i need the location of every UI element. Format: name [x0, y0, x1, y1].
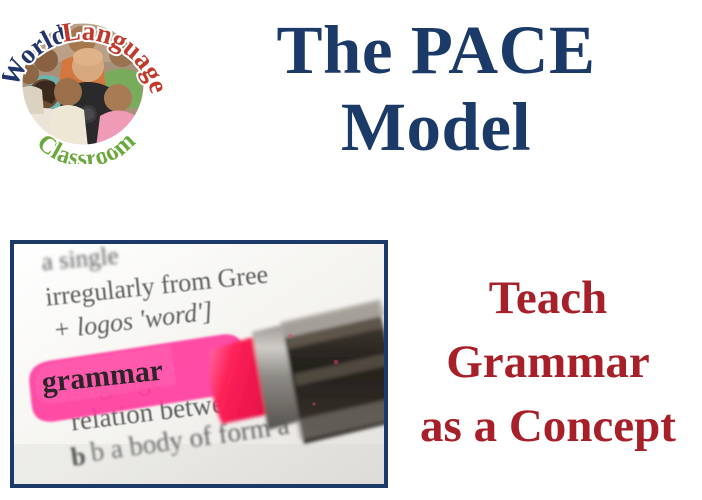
subtitle-line-1: Teach: [396, 266, 700, 330]
subtitle-line-2: Grammar: [396, 330, 700, 394]
grammar-dictionary-photo: a single irregularly from Gree + logos '…: [10, 240, 388, 488]
page-subtitle: Teach Grammar as a Concept: [396, 266, 700, 458]
subtitle-line-3: as a Concept: [396, 394, 700, 458]
title-line-2: Model: [170, 89, 702, 166]
page-title: The PACE Model: [170, 12, 702, 166]
slide-canvas: World Language Classroom The PACE Model …: [0, 0, 702, 500]
title-line-1: The PACE: [170, 12, 702, 89]
world-language-classroom-logo[interactable]: World Language Classroom: [2, 2, 164, 164]
